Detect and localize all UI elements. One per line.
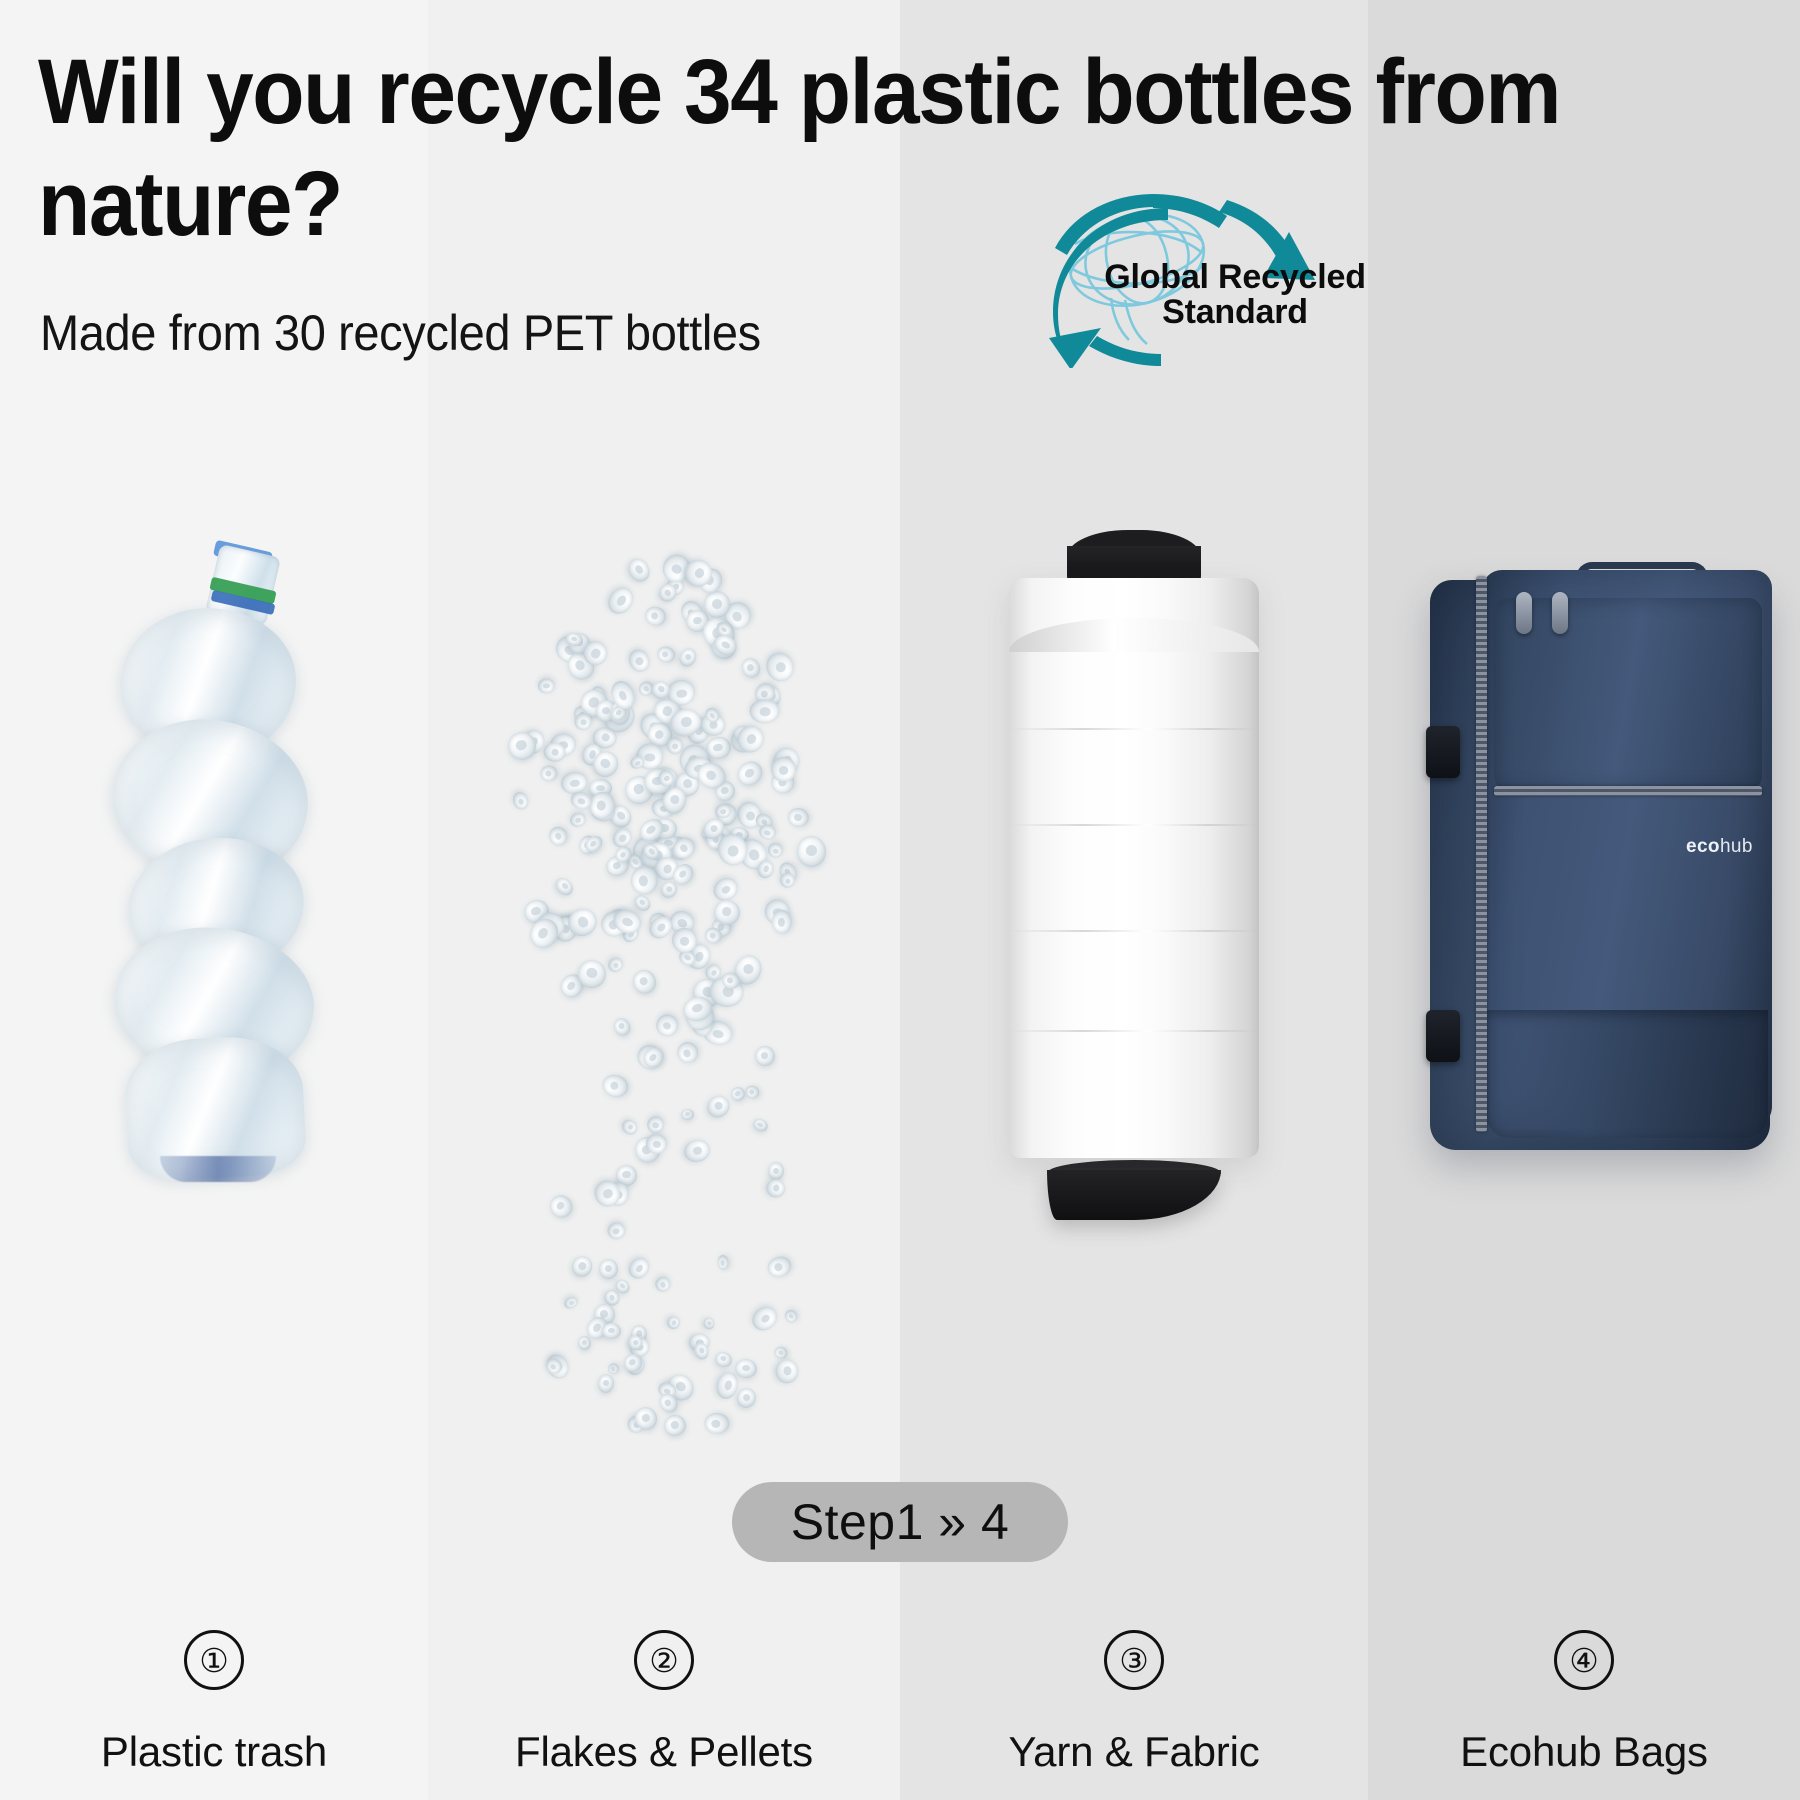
step-legend-item-3: ③ Yarn & Fabric — [900, 1630, 1368, 1800]
pet-pellet — [611, 1015, 633, 1038]
backpack-main-zipper — [1476, 576, 1487, 1132]
pet-pellet — [680, 1109, 694, 1121]
pet-pellet — [539, 764, 559, 783]
pet-pellet — [546, 824, 570, 849]
pet-pellet — [671, 927, 697, 953]
pet-pellet — [568, 1252, 596, 1281]
pet-pellet — [545, 1190, 576, 1221]
brand-logo-bold: eco — [1686, 836, 1720, 857]
page-subtitle: Made from 30 recycled PET bottles — [40, 303, 761, 363]
step-label: Plastic trash — [101, 1728, 327, 1776]
pet-pellet — [605, 1221, 627, 1242]
pet-pellet — [625, 645, 654, 675]
pet-pellet — [625, 555, 654, 586]
pet-pellet — [753, 1044, 777, 1068]
pet-pellet — [796, 835, 827, 868]
backpack-pocket-zipper — [1494, 786, 1762, 796]
pet-pellet — [734, 1358, 758, 1379]
pet-pellet — [575, 712, 592, 730]
step-label: Ecohub Bags — [1460, 1728, 1708, 1776]
pet-pellet — [703, 1091, 734, 1122]
pet-pellet — [577, 1335, 592, 1352]
pet-pellet — [553, 874, 577, 898]
step-number-badge: ④ — [1554, 1630, 1614, 1690]
pet-pellet — [717, 1255, 729, 1270]
step-image-yarn-cone — [900, 470, 1368, 1480]
pet-pellet — [599, 1258, 619, 1279]
brand-logo-light: hub — [1720, 836, 1753, 857]
pet-pellet — [682, 1137, 712, 1165]
pet-pellet — [771, 910, 792, 934]
pet-pellet — [762, 648, 798, 685]
step-badge: Step1 » 4 — [732, 1482, 1068, 1562]
step-number-badge: ① — [184, 1630, 244, 1690]
step-legend-item-1: ① Plastic trash — [0, 1630, 428, 1800]
pet-pellet — [674, 1039, 701, 1066]
yarn-winding-line — [1009, 1030, 1259, 1032]
step-image-plastic-trash — [0, 470, 428, 1480]
pet-pellet — [783, 1307, 801, 1325]
step-number-badge: ② — [634, 1630, 694, 1690]
process-imagery: ecohub — [0, 470, 1800, 1480]
pet-pellet — [750, 699, 780, 723]
pet-pellet — [661, 1413, 688, 1440]
backpack-front-pocket — [1494, 598, 1762, 790]
pet-pellet — [632, 893, 654, 915]
step-label: Flakes & Pellets — [515, 1728, 813, 1776]
pet-pellet — [764, 1254, 793, 1281]
bottle-body — [112, 608, 318, 1178]
cone-yarn-body — [1009, 578, 1259, 1158]
pet-pellet — [606, 955, 626, 975]
cone-base-cap — [1047, 1170, 1221, 1220]
pet-pellet — [751, 1117, 770, 1135]
step-legend-item-4: ④ Ecohub Bags — [1368, 1630, 1800, 1800]
yarn-cone-illustration — [1009, 530, 1259, 1220]
step-number-badge: ③ — [1104, 1630, 1164, 1690]
brand-logo: ecohub — [1686, 836, 1753, 858]
pet-pellet — [604, 582, 639, 618]
zipper-pull — [1516, 592, 1532, 634]
pet-pellet — [647, 1115, 666, 1134]
yarn-winding-line — [1009, 930, 1259, 932]
step-legend-item-2: ② Flakes & Pellets — [428, 1630, 900, 1800]
backpack-side-clip — [1426, 726, 1460, 778]
cone-shoulder — [1009, 618, 1259, 652]
pet-pellet — [748, 1301, 782, 1334]
backpack-bottom-panel — [1486, 1010, 1768, 1138]
pet-pellet — [568, 811, 587, 829]
pet-pellet — [643, 604, 668, 628]
pet-pellet — [624, 1254, 653, 1283]
pet-pellet — [773, 1345, 789, 1360]
pet-pellet — [676, 645, 700, 669]
step-image-flakes-pellets — [428, 470, 900, 1480]
pet-pellet — [666, 1315, 682, 1331]
pet-pellet — [733, 756, 768, 791]
pet-pellet — [703, 1316, 717, 1331]
pet-pellet — [766, 841, 784, 859]
pet-pellet — [597, 1373, 615, 1394]
step-legend: ① Plastic trash ② Flakes & Pellets ③ Yar… — [0, 1630, 1800, 1800]
step-image-ecohub-backpack: ecohub — [1368, 470, 1800, 1480]
bottle-base — [160, 1156, 276, 1182]
pet-pellet — [728, 1085, 747, 1104]
pet-pellet — [631, 866, 658, 894]
pet-pellet — [744, 1084, 761, 1100]
pet-pellet — [713, 1349, 733, 1368]
infographic-canvas: Will you recycle 34 plastic bottles from… — [0, 0, 1800, 1800]
certification-name-line1: Global Recycled — [1104, 258, 1366, 296]
pet-pellet — [787, 807, 810, 828]
certification-name: Global Recycled Standard — [1075, 260, 1395, 330]
crushed-bottle-illustration — [94, 550, 334, 1190]
pet-pellet — [600, 1072, 630, 1100]
pet-pellet — [629, 966, 659, 997]
pet-pellet — [563, 1295, 580, 1311]
pet-pellet — [602, 1323, 621, 1339]
zipper-pull — [1552, 592, 1568, 634]
pet-pellet — [510, 790, 531, 812]
pet-pellet — [655, 645, 675, 664]
pet-pellet — [653, 1275, 672, 1294]
global-recycled-standard-logo: Global Recycled Standard — [1005, 188, 1395, 368]
step-label: Yarn & Fabric — [1008, 1728, 1259, 1776]
pet-pellet — [538, 678, 555, 694]
pet-pellet — [619, 1117, 640, 1138]
pet-pellet — [652, 1010, 682, 1040]
pet-pellet — [765, 1177, 787, 1198]
pet-pellet — [775, 1358, 799, 1383]
page-title: Will you recycle 34 plastic bottles from… — [38, 36, 1656, 260]
yarn-winding-line — [1009, 824, 1259, 826]
pet-pellet — [734, 1385, 760, 1411]
pet-pellet — [738, 655, 763, 681]
backpack-side-clip — [1426, 1010, 1460, 1062]
pellet-field — [428, 510, 900, 1450]
yarn-winding-line — [1009, 728, 1259, 730]
pet-pellet — [705, 1413, 730, 1435]
certification-name-line2: Standard — [1075, 295, 1395, 330]
backpack-illustration: ecohub — [1390, 540, 1800, 1180]
